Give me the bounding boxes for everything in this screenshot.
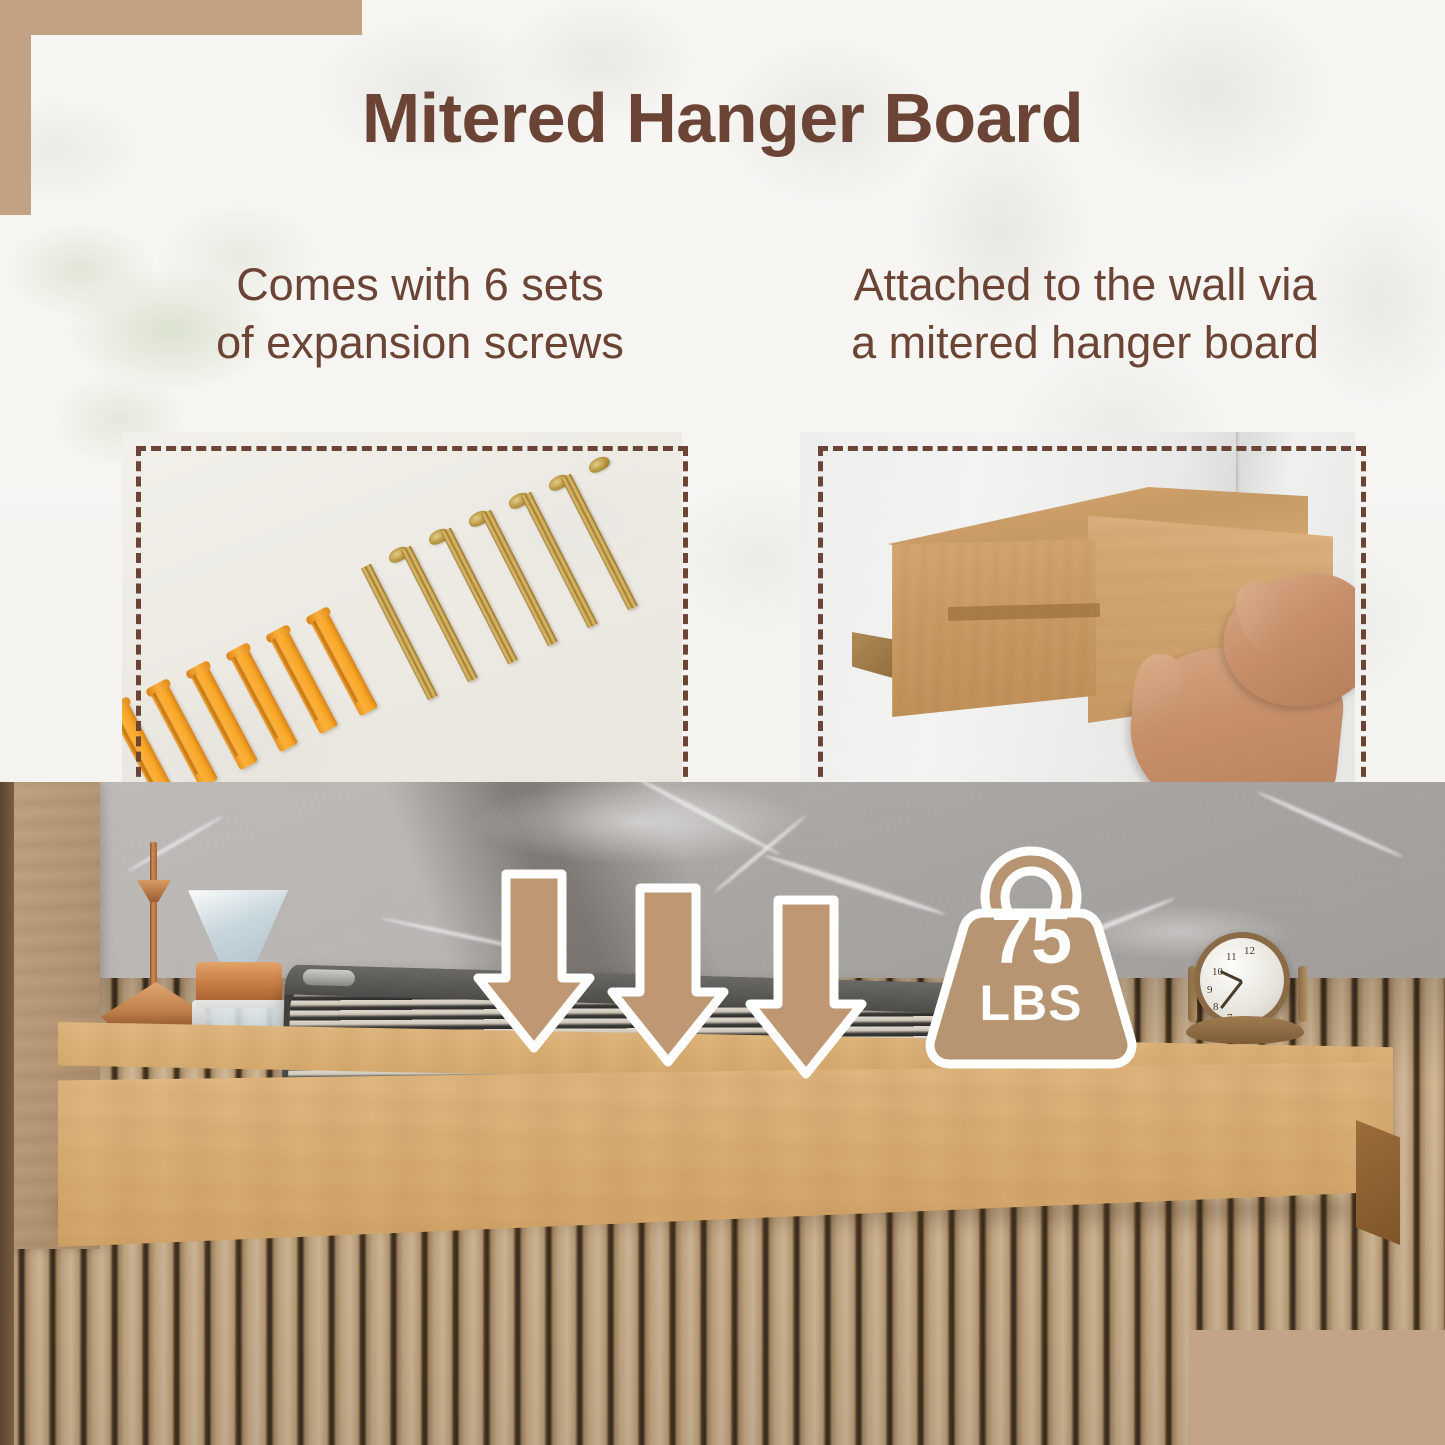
caption-right-line2: a mitered hanger board: [740, 314, 1430, 372]
corner-accent-top-horizontal: [0, 0, 362, 35]
expansion-screws-photo: [122, 432, 682, 817]
left-dark-edge: [0, 782, 14, 1445]
shelf-right-end-cap: [1356, 1120, 1400, 1245]
weight-value: 75: [905, 901, 1157, 975]
arrow-down-icon: [604, 880, 732, 1070]
caption-left: Comes with 6 sets of expansion screws: [135, 256, 705, 371]
infographic-page: Mitered Hanger Board Comes with 6 sets o…: [0, 0, 1445, 1445]
clock-minute-hand: [1220, 981, 1243, 1010]
arrow-down-icon: [470, 866, 598, 1056]
page-title: Mitered Hanger Board: [0, 82, 1445, 156]
clock-numeral: 9: [1207, 984, 1213, 996]
candle-holder-cup: [137, 880, 171, 902]
weight-capacity-badge: 75 LBS: [905, 843, 1157, 1071]
corner-accent-bottom-right: [1190, 1330, 1445, 1445]
glass-vessel-cone: [188, 890, 288, 968]
caption-left-line2: of expansion screws: [135, 314, 705, 372]
marble-vein: [629, 782, 781, 857]
shelf-front-face: [58, 1062, 1393, 1247]
clock-numeral: 12: [1244, 945, 1255, 957]
arrow-down-icon: [742, 892, 870, 1082]
caption-left-line1: Comes with 6 sets: [135, 256, 705, 314]
glass-vessel: [178, 890, 298, 1040]
marble-vein: [1256, 790, 1404, 860]
shelf-end-face: [888, 539, 1096, 717]
hanger-board-mounting-photo: [800, 432, 1355, 817]
soundbar-control-knob: [303, 969, 355, 986]
clock-face: 12 11 10 9 8 7: [1194, 932, 1290, 1028]
clock-post-right: [1298, 966, 1307, 1022]
caption-right: Attached to the wall via a mitered hange…: [740, 256, 1430, 371]
clock-numeral: 8: [1213, 1001, 1219, 1013]
caption-right-line1: Attached to the wall via: [740, 256, 1430, 314]
clock-numeral: 11: [1226, 951, 1237, 963]
candle-holder-rod: [150, 842, 157, 992]
weight-unit: LBS: [905, 978, 1157, 1028]
